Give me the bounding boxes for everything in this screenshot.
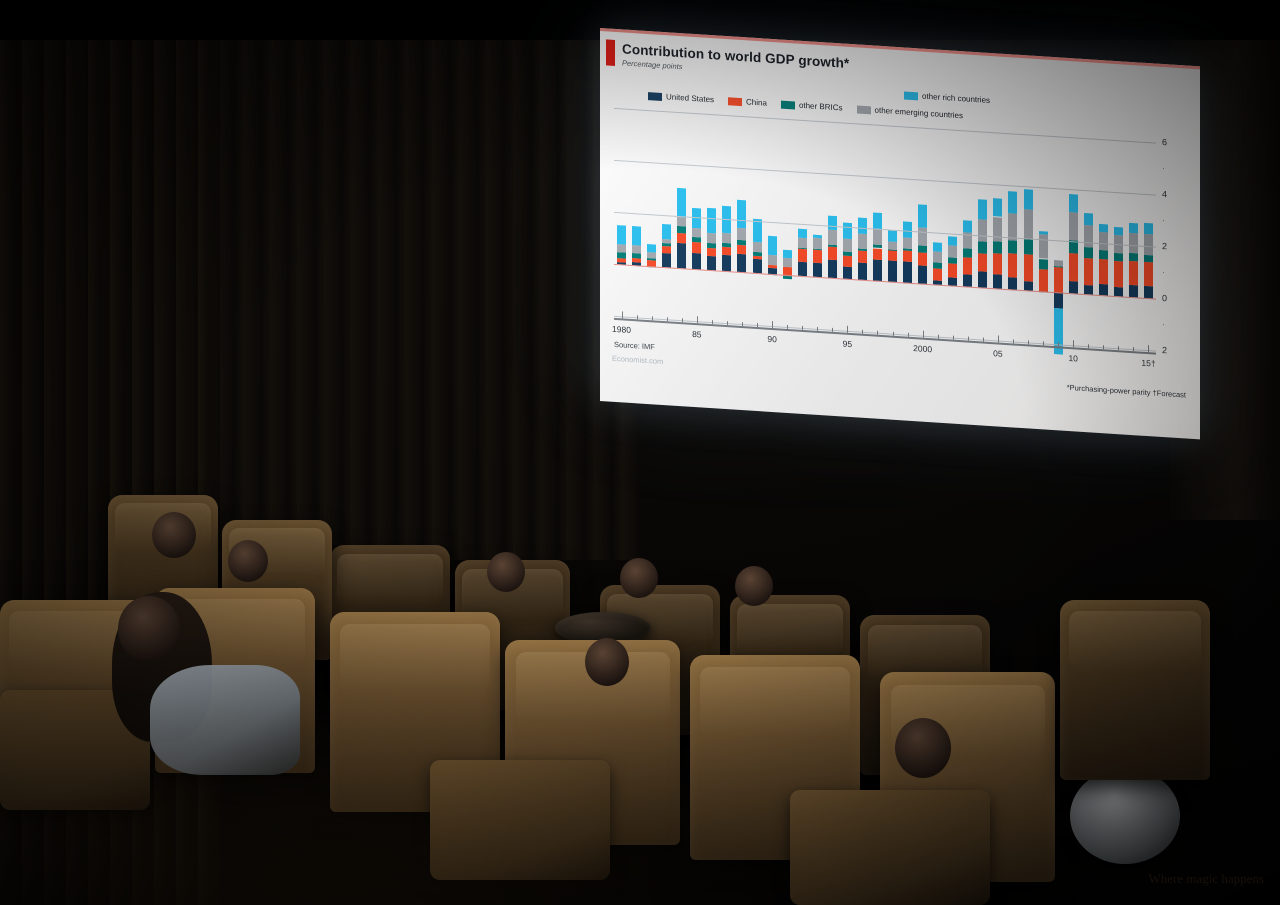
bar-segment (692, 242, 701, 253)
bar-segment (828, 230, 837, 245)
bar-segment (1129, 285, 1138, 297)
x-axis-minor-tick (637, 315, 638, 319)
bar-segment (798, 229, 807, 238)
x-axis-minor-tick (787, 325, 788, 329)
bar-segment (888, 261, 897, 282)
bar-segment (993, 274, 1002, 289)
x-axis-minor-tick (1028, 340, 1029, 344)
bar-segment (1039, 231, 1048, 235)
legend-label: United States (666, 92, 714, 104)
bar-segment (1144, 286, 1153, 298)
x-axis-minor-tick (817, 327, 818, 331)
x-axis-minor-tick (712, 320, 713, 324)
chart-plot-area: 20246···· (614, 108, 1156, 351)
bar-segment (978, 253, 987, 272)
x-axis-minor-tick (1088, 344, 1089, 348)
bar-segment (813, 250, 822, 264)
bar-segment (647, 252, 656, 258)
bar-segment (963, 258, 972, 275)
x-axis-minor-tick (938, 335, 939, 339)
x-axis-tick-label: 90 (767, 334, 776, 345)
bar-segment (828, 259, 837, 278)
bar-segment (722, 255, 731, 272)
bar-segment (1024, 189, 1033, 210)
x-axis-major-tick (772, 321, 773, 328)
bar-segment (1008, 277, 1017, 289)
legend-item: United States (648, 91, 714, 104)
bar-segment (737, 254, 746, 273)
bar-segment (783, 250, 792, 258)
bar-segment (1099, 250, 1108, 259)
audience-head (228, 540, 268, 582)
y-axis-tick-label: 2 (1162, 241, 1167, 251)
x-axis-minor-tick (862, 330, 863, 334)
bar-segment (918, 204, 927, 228)
bar-segment (858, 218, 867, 234)
bar-segment (737, 228, 746, 241)
bar-segment (707, 233, 716, 243)
bar-segment (707, 248, 716, 256)
legend-label: China (746, 97, 767, 107)
bar-segment (677, 233, 686, 243)
bar-segment (662, 253, 671, 268)
audience-head (152, 512, 196, 558)
bar-segment (873, 260, 882, 281)
bar-segment (647, 244, 656, 252)
audience-head (735, 566, 773, 606)
bar-segment (933, 268, 942, 281)
bar-segment (707, 256, 716, 271)
bar-segment (1084, 247, 1093, 258)
bar-segment (662, 239, 671, 244)
x-axis-tick-label: 95 (843, 339, 852, 350)
bar-segment (662, 246, 671, 253)
bar-segment (753, 241, 762, 252)
x-axis-tick-label: 1980 (612, 324, 631, 335)
bar-segment (1084, 225, 1093, 248)
bar-segment (677, 217, 686, 227)
bar-segment (843, 267, 852, 279)
bar-segment (737, 245, 746, 254)
bar-segment (1039, 269, 1048, 292)
bar-segment (753, 255, 762, 259)
bar-segment (798, 261, 807, 276)
legend-item: other BRICs (781, 100, 843, 113)
bar-segment (978, 199, 987, 220)
bar-segment (753, 252, 762, 256)
bar-segment (978, 241, 987, 253)
bar-segment (963, 249, 972, 259)
economist-chart: Contribution to world GDP growth* Percen… (600, 31, 1200, 439)
screenshot-root: Contribution to world GDP growth* Percen… (0, 0, 1280, 905)
x-axis-minor-tick (652, 316, 653, 320)
bar-segment (903, 238, 912, 249)
legend-swatch-icon (904, 91, 918, 100)
bar-segment (1129, 222, 1138, 232)
bar-segment (1129, 253, 1138, 261)
legend-swatch-icon (728, 97, 742, 106)
bar-segment (737, 200, 746, 229)
legend-label: other rich countries (922, 92, 990, 105)
x-axis-minor-tick (1133, 347, 1134, 351)
chart-footnote: *Purchasing-power parity †Forecast (1067, 383, 1186, 400)
x-axis-minor-tick (832, 328, 833, 332)
bar-segment (1069, 194, 1078, 213)
bar-segment (1114, 253, 1123, 262)
bar-segment (632, 253, 641, 259)
x-axis-minor-tick (908, 333, 909, 337)
bar-segment (1008, 191, 1017, 214)
bar-segment (692, 228, 701, 238)
bar-segment (963, 275, 972, 287)
projection-screen: Contribution to world GDP growth* Percen… (600, 28, 1210, 487)
x-axis-minor-tick (1118, 346, 1119, 350)
x-axis-tick-label: 85 (692, 329, 701, 340)
bar-segment (1099, 284, 1108, 295)
bar-segment (617, 258, 626, 263)
x-axis-minor-tick (802, 326, 803, 330)
x-axis-tick-label: 2000 (913, 343, 932, 354)
y-axis-minor-tick: · (1162, 215, 1165, 225)
bar-segment (722, 232, 731, 243)
x-axis-minor-tick (682, 318, 683, 322)
x-axis-minor-tick (727, 321, 728, 325)
legend-row-top: other rich countries (904, 90, 990, 105)
bar-segment (1099, 224, 1108, 232)
floor-ambient-glow (0, 605, 1280, 905)
bar-segment (737, 240, 746, 245)
bar-segment (707, 208, 716, 234)
bar-segment (888, 241, 897, 249)
x-axis-major-tick (1073, 340, 1074, 347)
audience-head (620, 558, 658, 598)
bar-segment (1129, 260, 1138, 285)
bar-segment (978, 272, 987, 288)
bar-segment (1069, 281, 1078, 293)
brand-accent-bar (606, 39, 615, 66)
y-axis-minor-tick: · (1162, 319, 1165, 329)
bar-segment (677, 226, 686, 234)
bar-segment (1054, 260, 1063, 266)
bar-segment (677, 188, 686, 217)
bar-segment (1084, 258, 1093, 286)
bar-segment (1069, 212, 1078, 240)
legend-label: other emerging countries (875, 106, 964, 121)
bar-segment (1069, 253, 1078, 282)
bar-segment (1008, 254, 1017, 278)
bar-segment (918, 253, 927, 266)
bar-segment (768, 254, 777, 265)
bar-segment (813, 235, 822, 239)
bar-segment (933, 251, 942, 263)
bar-segment (1144, 222, 1153, 234)
bar-segment (843, 223, 852, 240)
bar-segment (858, 263, 867, 280)
bar-segment (617, 252, 626, 259)
bar-segment (768, 265, 777, 269)
bar-segment (1144, 255, 1153, 263)
x-axis-minor-tick (757, 323, 758, 327)
bar-segment (692, 253, 701, 270)
bar-segment (1024, 239, 1033, 254)
bar-segment (1114, 261, 1123, 287)
bar-segment (1129, 232, 1138, 253)
bar-segment (1039, 234, 1048, 259)
bar-segment (948, 257, 957, 263)
bar-segment (1024, 209, 1033, 239)
bar-segment (948, 263, 957, 278)
x-axis-major-tick (923, 331, 924, 338)
bar-segment (903, 262, 912, 283)
y-axis-minor-tick: · (1162, 267, 1165, 277)
bar-segment (993, 241, 1002, 253)
legend-item: other emerging countries (857, 104, 964, 120)
bar-segment (948, 245, 957, 258)
bar-segment (722, 246, 731, 255)
bar-segment (1024, 254, 1033, 282)
bar-segment (1084, 213, 1093, 225)
bar-segment (918, 245, 927, 253)
bar-segment (753, 258, 762, 273)
x-axis-major-tick (1148, 345, 1149, 352)
x-axis-minor-tick (1058, 342, 1059, 346)
bar-segment (993, 217, 1002, 242)
bar-segment (963, 221, 972, 233)
bar-segment (798, 237, 807, 248)
bar-segment (768, 236, 777, 255)
bar-segment (948, 236, 957, 246)
x-axis-minor-tick (1103, 345, 1104, 349)
x-axis-minor-tick (742, 322, 743, 326)
bar-segment (873, 244, 882, 248)
bar-segment (1054, 267, 1063, 292)
bar-segment (828, 216, 837, 231)
bar-segment (662, 224, 671, 239)
legend-item: China (728, 96, 767, 107)
bottom-watermark: Where magic happens (1148, 871, 1264, 887)
legend-swatch-icon (781, 100, 795, 109)
chart-subtitle: Percentage points (622, 58, 682, 71)
legend-label: other BRICs (799, 101, 843, 113)
x-axis-tick-label: 05 (993, 348, 1002, 359)
bar-segment (1144, 234, 1153, 255)
x-axis-minor-tick (983, 338, 984, 342)
bar-segment (933, 263, 942, 269)
screen-surface: Contribution to world GDP growth* Percen… (600, 28, 1200, 439)
x-axis-tick-label: 10 (1068, 353, 1077, 364)
bar-segment (1099, 231, 1108, 250)
x-axis-minor-tick (1013, 339, 1014, 343)
legend-item: other rich countries (904, 90, 990, 105)
bar-segment (843, 255, 852, 267)
bar-segment (798, 248, 807, 262)
bar-segment (1144, 262, 1153, 286)
bar-segment (993, 253, 1002, 274)
bar-segment (843, 239, 852, 253)
bar-segment (1054, 292, 1063, 308)
bar-segment (873, 248, 882, 260)
bar-segment (677, 243, 686, 268)
y-axis-minor-tick: · (1162, 163, 1165, 173)
x-axis-minor-tick (877, 331, 878, 335)
chart-watermark: Economist.com (612, 354, 663, 366)
x-axis-major-tick (697, 316, 698, 323)
bar-segment (632, 258, 641, 262)
x-axis-major-tick (622, 311, 623, 318)
bar-segment (888, 250, 897, 261)
x-axis-minor-tick (667, 317, 668, 321)
bar-segment (828, 247, 837, 260)
x-axis-major-tick (998, 335, 999, 342)
bar-segment (1008, 241, 1017, 255)
bar-segment (858, 251, 867, 263)
x-axis-minor-tick (968, 337, 969, 341)
bar-segment (813, 238, 822, 249)
bar-segment (1099, 259, 1108, 285)
audience-head (487, 552, 525, 592)
bar-segment (933, 242, 942, 252)
bar-segment (1114, 227, 1123, 235)
bar-segment (918, 265, 927, 284)
bar-segment (873, 229, 882, 245)
y-axis-tick-label: 2 (1162, 345, 1167, 355)
x-axis-minor-tick (953, 336, 954, 340)
bar-segment (783, 258, 792, 268)
bar-segment (722, 243, 731, 247)
y-axis-tick-label: 4 (1162, 189, 1167, 199)
bar-segment (617, 244, 626, 252)
bar-segment (978, 219, 987, 242)
chart-source: Source: IMF (614, 340, 655, 352)
legend-swatch-icon (857, 105, 871, 114)
x-axis-major-tick (847, 326, 848, 333)
bar-segment (632, 226, 641, 245)
x-axis-minor-tick (893, 332, 894, 336)
x-axis-minor-tick (1043, 341, 1044, 345)
x-axis-tick-label: 15† (1141, 358, 1155, 369)
bar-segment (858, 233, 867, 249)
bar-segment (903, 251, 912, 262)
bar-segment (813, 263, 822, 277)
y-axis-tick-label: 6 (1162, 137, 1167, 147)
bar-segment (617, 225, 626, 244)
bar-segment (888, 230, 897, 241)
bar-segment (1039, 259, 1048, 270)
bar-segment (707, 243, 716, 249)
bar-segment (692, 237, 701, 243)
y-axis-tick-label: 0 (1162, 293, 1167, 303)
legend-swatch-icon (648, 92, 662, 101)
bar-segment (993, 198, 1002, 217)
bar-segment (873, 213, 882, 230)
bar-segment (632, 245, 641, 254)
